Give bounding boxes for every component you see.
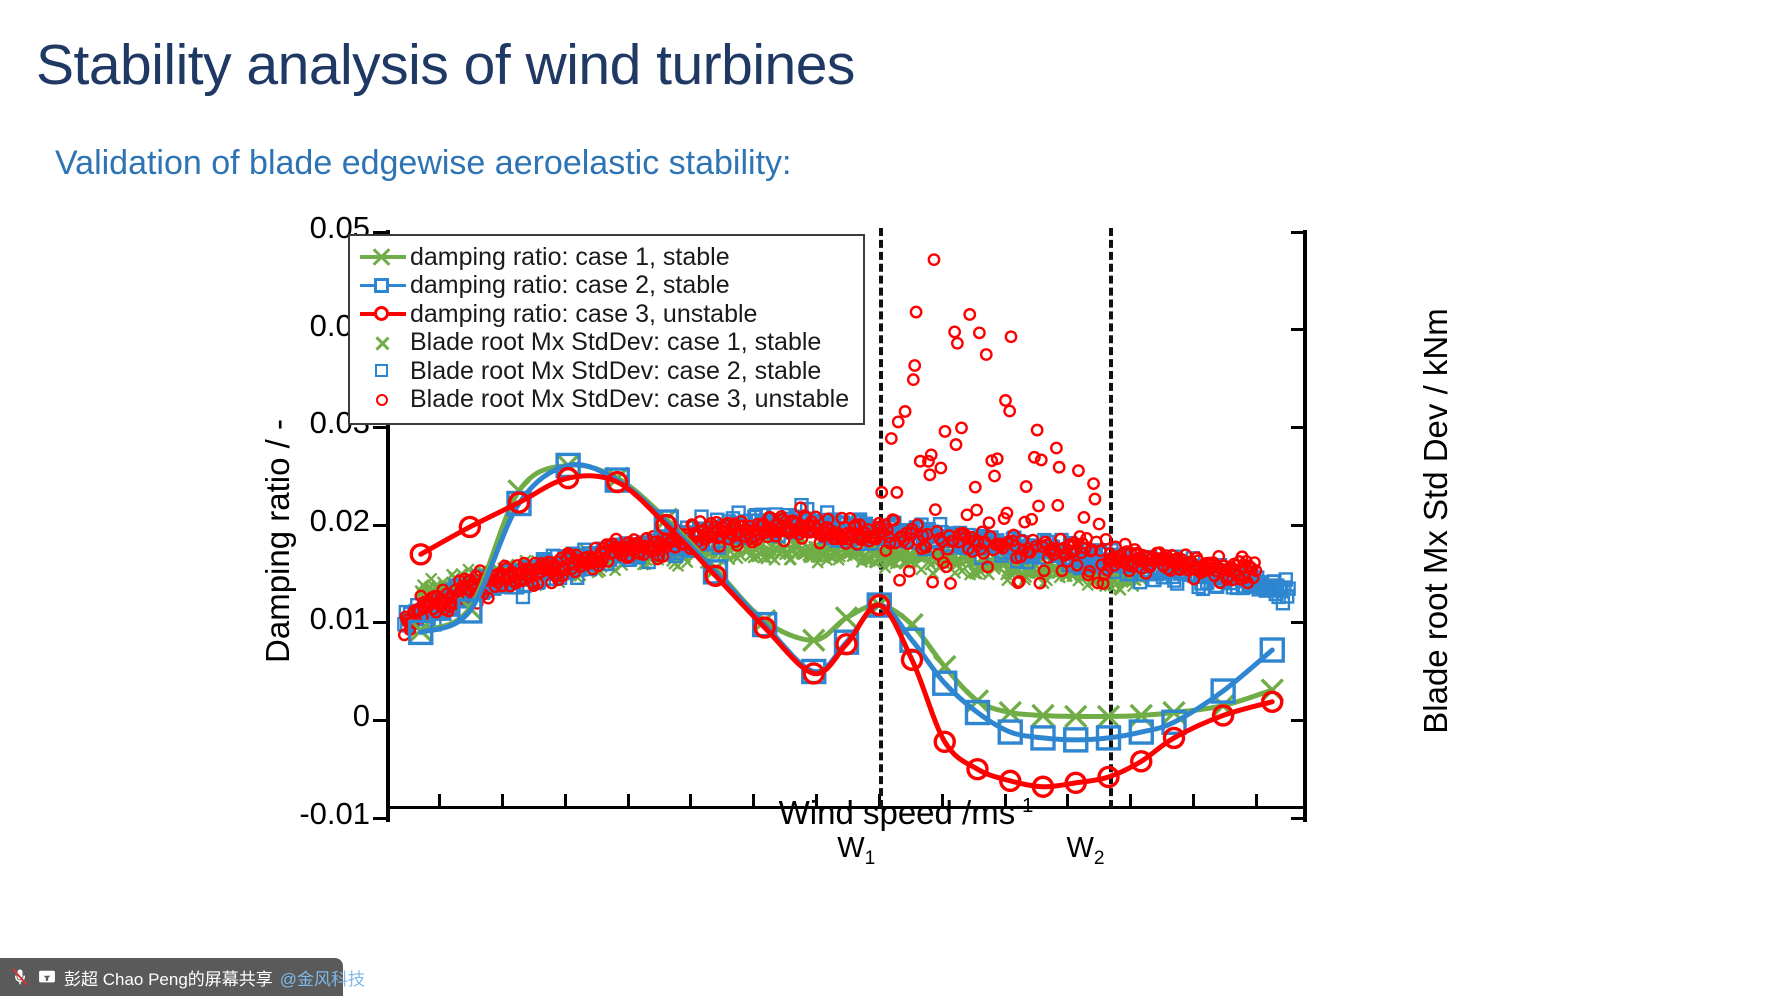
- data-point-marker: [926, 450, 936, 460]
- x-marker-icon: [360, 330, 406, 356]
- data-point-marker: [1051, 443, 1061, 453]
- data-point-marker: [1079, 512, 1089, 522]
- damping-ratio-curve: [421, 465, 1273, 717]
- data-point-marker: [1033, 501, 1043, 511]
- screen-share-icon[interactable]: [37, 967, 57, 987]
- data-point-marker: [893, 417, 903, 427]
- data-point-marker: [1088, 478, 1098, 488]
- data-point-marker: [925, 470, 935, 480]
- data-point-marker: [1090, 494, 1100, 504]
- data-point-marker: [940, 426, 950, 436]
- damping-ratio-curves-group: [410, 454, 1284, 796]
- data-point-marker: [952, 338, 962, 348]
- chart-legend: damping ratio: case 1, stable damping ra…: [348, 234, 865, 425]
- data-point-marker: [956, 423, 966, 433]
- data-point-marker: [1000, 395, 1010, 405]
- share-status-org: @金风科技: [280, 965, 365, 990]
- legend-item-label: Blade root Mx StdDev: case 3, unstable: [410, 387, 849, 412]
- data-point-marker: [908, 374, 918, 384]
- data-point-marker: [971, 505, 981, 515]
- vertical-reference-label-w2: W2: [1067, 832, 1105, 870]
- data-point-marker: [927, 577, 937, 587]
- data-point-marker: [1021, 481, 1031, 491]
- share-status-text: 彭超 Chao Peng的屏幕共享: [64, 965, 273, 990]
- legend-item-label: Blade root Mx StdDev: case 2, stable: [410, 359, 821, 384]
- data-point-marker: [945, 578, 955, 588]
- data-point-marker: [900, 406, 910, 416]
- data-point-marker: [981, 349, 991, 359]
- data-point-marker: [989, 471, 999, 481]
- data-point-marker: [929, 254, 939, 264]
- data-point-marker: [886, 433, 896, 443]
- legend-item-0[interactable]: damping ratio: case 1, stable: [360, 243, 849, 272]
- line-square-marker-icon: [360, 273, 406, 299]
- data-point-marker: [1006, 332, 1016, 342]
- data-point-marker: [836, 607, 857, 628]
- legend-item-1[interactable]: damping ratio: case 2, stable: [360, 272, 849, 301]
- legend-item-label: damping ratio: case 3, unstable: [410, 302, 757, 327]
- legend-item-5[interactable]: Blade root Mx StdDev: case 3, unstable: [360, 386, 849, 415]
- square-marker-icon: [360, 358, 406, 384]
- data-point-marker: [892, 487, 902, 497]
- line-x-marker-icon: [360, 244, 406, 270]
- data-point-marker: [974, 328, 984, 338]
- data-point-marker: [1073, 465, 1083, 475]
- data-point-marker: [894, 575, 904, 585]
- data-point-marker: [1094, 519, 1104, 529]
- legend-item-4[interactable]: Blade root Mx StdDev: case 2, stable: [360, 357, 849, 386]
- legend-item-2[interactable]: damping ratio: case 3, unstable: [360, 300, 849, 329]
- data-point-marker: [911, 307, 921, 317]
- legend-item-label: Blade root Mx StdDev: case 1, stable: [410, 330, 821, 355]
- screen-share-status-bar[interactable]: 彭超 Chao Peng的屏幕共享 @金风科技: [0, 958, 343, 996]
- data-point-marker: [1004, 406, 1014, 416]
- data-point-marker: [936, 463, 946, 473]
- line-circle-marker-icon: [360, 301, 406, 327]
- data-point-marker: [1053, 500, 1063, 510]
- chart-figure: Damping ratio / - Blade root Mx Std Dev …: [236, 222, 1566, 832]
- data-point-marker: [930, 504, 940, 514]
- page-title: Stability analysis of wind turbines: [36, 36, 855, 96]
- vertical-reference-label-w1: W1: [837, 832, 875, 870]
- microphone-muted-icon[interactable]: [10, 967, 30, 987]
- data-point-marker: [970, 482, 980, 492]
- data-point-marker: [1054, 462, 1064, 472]
- data-point-marker: [984, 518, 994, 528]
- data-point-marker: [910, 360, 920, 370]
- legend-item-label: damping ratio: case 2, stable: [410, 273, 730, 298]
- damping-ratio-curve: [421, 464, 1273, 739]
- data-point-marker: [877, 487, 887, 497]
- slide-subtitle: Validation of blade edgewise aeroelastic…: [55, 145, 791, 182]
- legend-item-3[interactable]: Blade root Mx StdDev: case 1, stable: [360, 329, 849, 358]
- data-point-marker: [951, 439, 961, 449]
- data-point-marker: [949, 327, 959, 337]
- circle-marker-icon: [360, 387, 406, 413]
- data-point-marker: [1032, 425, 1042, 435]
- data-point-marker: [965, 309, 975, 319]
- legend-item-label: damping ratio: case 1, stable: [410, 245, 730, 270]
